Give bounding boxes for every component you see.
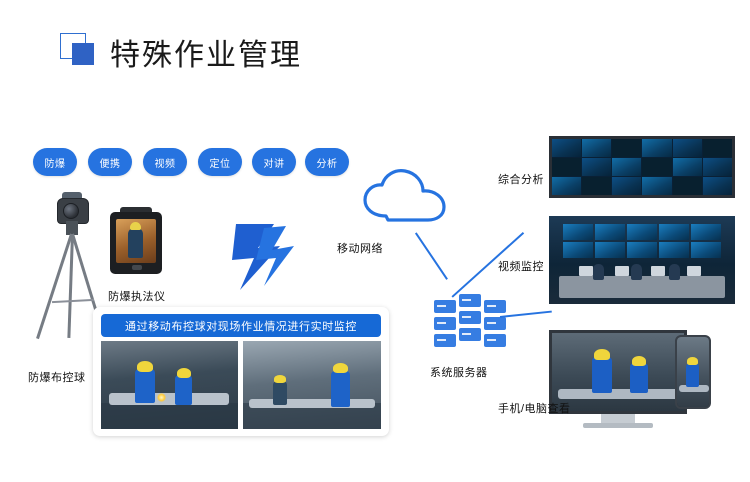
server-stack-icon <box>432 290 508 352</box>
pipe-shape <box>109 393 229 405</box>
camera-lens-icon <box>63 203 79 219</box>
video-ground <box>101 403 238 429</box>
tag-pill-fenxi[interactable]: 分析 <box>305 148 349 176</box>
control-room-tile <box>563 242 593 258</box>
control-room-tile <box>691 242 721 258</box>
video-card-banner: 通过移动布控球对现场作业情况进行实时监控 <box>101 314 381 337</box>
video-feed-right <box>243 341 381 429</box>
control-room-monitor <box>651 266 665 276</box>
worker-helmet <box>137 361 153 372</box>
worker-figure <box>686 363 699 387</box>
tag-pill-label: 视频 <box>155 155 176 170</box>
control-room-desk <box>559 276 725 298</box>
worker-helmet <box>594 349 610 360</box>
label-system-server: 系统服务器 <box>430 364 488 380</box>
control-room-tile <box>563 224 593 240</box>
video-wall-cell <box>673 177 702 195</box>
phone-scene <box>677 337 709 407</box>
video-wall-cell <box>703 177 732 195</box>
video-wall-cell <box>673 158 702 176</box>
worker-figure <box>630 363 648 393</box>
label-mobile-network: 移动网络 <box>337 240 383 256</box>
square-marker-fill-icon <box>72 43 94 65</box>
tag-pill-dingwei[interactable]: 定位 <box>198 148 242 176</box>
control-room-tile <box>659 242 689 258</box>
worker-helmet <box>632 356 646 366</box>
control-room-tile <box>595 242 625 258</box>
tag-pill-shipin[interactable]: 视频 <box>143 148 187 176</box>
recorder-button-icon <box>132 265 142 270</box>
tag-pill-fangbao[interactable]: 防爆 <box>33 148 77 176</box>
worker-figure <box>175 375 192 405</box>
control-room-tile <box>659 224 689 240</box>
control-room-monitor <box>579 266 593 276</box>
video-feed-left <box>101 341 238 429</box>
video-wall-cell <box>612 177 641 195</box>
video-wall-cell <box>612 139 641 157</box>
worker-helmet <box>177 368 191 378</box>
video-wall-cell <box>582 177 611 195</box>
tag-pill-label: 分析 <box>317 155 338 170</box>
worker-figure <box>273 381 287 405</box>
video-wall-cell <box>703 139 732 157</box>
tag-pill-label: 对讲 <box>264 155 285 170</box>
tripod-brace-icon <box>52 299 94 303</box>
control-room-tile <box>595 224 625 240</box>
pipe-shape <box>249 399 375 408</box>
pipe-shape <box>558 389 680 399</box>
video-wall-cell <box>642 177 671 195</box>
connector-cloud-to-server <box>415 232 448 279</box>
video-wall-grid <box>552 139 732 195</box>
recorder-screen-icon <box>116 219 156 263</box>
weld-spark <box>157 393 166 402</box>
video-wall-cell <box>612 158 641 176</box>
video-wall-cell <box>642 139 671 157</box>
tag-pill-duijiang[interactable]: 对讲 <box>252 148 296 176</box>
tag-pill-label: 防爆 <box>45 155 66 170</box>
smartphone-icon <box>675 335 711 409</box>
video-wall-cell <box>703 158 732 176</box>
label-comprehensive-analysis: 综合分析 <box>498 171 544 187</box>
video-wall-cell <box>642 158 671 176</box>
label-phone-pc-view: 手机/电脑查看 <box>498 400 571 416</box>
control-room-operator <box>631 264 642 280</box>
control-room-tile <box>691 224 721 240</box>
label-ball-camera: 防爆布控球 <box>28 369 86 385</box>
worker-helmet <box>687 357 698 365</box>
video-wall-cell <box>552 139 581 157</box>
control-room-monitor <box>687 266 701 276</box>
cloud-icon <box>362 168 448 228</box>
control-room-operator <box>669 264 680 280</box>
control-room-wall <box>563 224 721 258</box>
video-wall-cell <box>552 177 581 195</box>
monitor-scene <box>552 333 684 411</box>
recorder-screen-figure <box>128 228 143 258</box>
video-wall-icon <box>549 136 735 198</box>
lightning-bolt-icon <box>228 224 312 290</box>
video-wall-cell <box>582 158 611 176</box>
control-room-monitor <box>615 266 629 276</box>
worker-figure <box>331 371 350 407</box>
worker-helmet <box>333 363 348 373</box>
worker-helmet <box>274 375 286 383</box>
page-title: 特殊作业管理 <box>110 30 302 74</box>
diagram-canvas: 特殊作业管理 防爆 便携 视频 定位 对讲 分析 防爆布控球 防爆执法仪 <box>0 0 750 482</box>
video-wall-cell <box>673 139 702 157</box>
monitor-base <box>583 423 653 428</box>
video-wall-cell <box>552 158 581 176</box>
worker-figure <box>592 357 612 393</box>
tag-pill-label: 便携 <box>100 155 121 170</box>
tag-pill-label: 定位 <box>210 155 231 170</box>
control-room-operator <box>593 264 604 280</box>
tag-pill-bianxie[interactable]: 便携 <box>88 148 132 176</box>
label-law-enforcement-recorder: 防爆执法仪 <box>108 288 166 304</box>
recorder-screen-helmet <box>130 222 141 230</box>
label-video-monitoring: 视频监控 <box>498 258 544 274</box>
worker-figure <box>135 369 155 403</box>
video-wall-cell <box>582 139 611 157</box>
control-room-icon <box>549 216 735 304</box>
control-room-tile <box>627 242 657 258</box>
tripod-leg-icon <box>67 234 74 338</box>
control-room-tile <box>627 224 657 240</box>
